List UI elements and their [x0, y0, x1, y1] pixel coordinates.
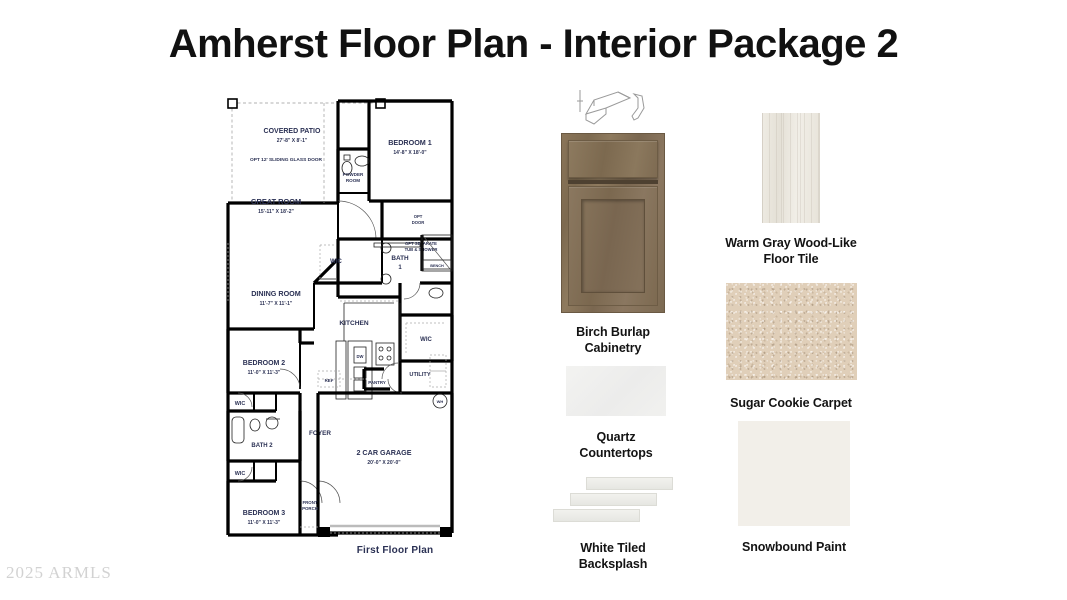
label-covered-patio: COVERED PATIO [264, 128, 321, 135]
label-garage: 2 CAR GARAGE [356, 448, 411, 457]
swatch-label-quartz: Quartz Countertops [544, 429, 688, 462]
label-bedroom-1: BEDROOM 1 [388, 138, 432, 147]
floor-plan-caption: First Floor Plan [330, 545, 460, 556]
label-bedroom-2-dims: 11'-0" X 11'-3" [248, 370, 281, 376]
cabinet-reveal-gap [568, 180, 658, 184]
swatch-warm-gray-floor-tile [762, 113, 820, 223]
label-wic-4: WIC [235, 471, 246, 477]
swatch-sugar-cookie-carpet [726, 283, 857, 380]
label-great-room-dims: 15'-11" X 18'-2" [258, 209, 294, 215]
label-opt-door-1: OPT [414, 214, 423, 219]
label-bedroom-1-dims: 14'-8" X 18'-0" [393, 150, 427, 156]
label-bedroom-3: BEDROOM 3 [243, 510, 286, 517]
label-refrigerator: REF [325, 378, 334, 383]
backsplash-tile [586, 477, 673, 490]
label-foyer: FOYER [309, 430, 331, 437]
label-powder-room-1: POWDER [343, 172, 364, 177]
cabinet-recessed-panel [581, 199, 645, 293]
floor-plan-drawing: .w{stroke:#000;stroke-width:3.2;fill:non… [214, 93, 458, 543]
label-opt-door-2: DOOR [412, 220, 425, 225]
label-wic-2: WIC [420, 337, 432, 343]
label-great-room: GREAT ROOM [251, 197, 301, 206]
label-powder-room-2: ROOM [346, 178, 360, 183]
label-bath-2: BATH 2 [251, 443, 273, 449]
cabinet-drawer-front [568, 140, 658, 178]
swatch-cabinetry [561, 133, 665, 313]
label-dishwasher: DW [357, 354, 364, 359]
swatch-label-carpet: Sugar Cookie Carpet [701, 395, 881, 411]
label-dining-room: DINING ROOM [251, 289, 301, 298]
page-title: Amherst Floor Plan - Interior Package 2 [0, 22, 1067, 67]
label-bedroom-2: BEDROOM 2 [243, 360, 286, 367]
cabinet-door-front [568, 186, 658, 306]
swatch-label-cabinetry: Birch Burlap Cabinetry [541, 324, 685, 357]
backsplash-tile [570, 493, 657, 506]
label-pantry: PANTRY [368, 380, 386, 385]
label-front-porch-2: PORCH [302, 506, 318, 511]
label-sliding-glass-door: OPT 12' SLIDING GLASS DOOR [250, 157, 323, 163]
label-kitchen: KITCHEN [339, 320, 369, 327]
backsplash-tile [553, 509, 640, 522]
label-covered-patio-dims: 27'-8" X 8'-1" [277, 138, 308, 144]
label-utility: UTILITY [409, 372, 430, 378]
label-wic-3: WIC [235, 401, 246, 407]
swatch-label-paint: Snowbound Paint [704, 539, 884, 555]
label-bedroom-3-dims: 11'-0" X 11'-3" [248, 520, 281, 526]
cabinet-door-outer [561, 133, 665, 313]
swatch-label-floor-tile: Warm Gray Wood-Like Floor Tile [701, 235, 881, 268]
label-bath-1: BATH [391, 255, 409, 262]
swatch-snowbound-paint [738, 421, 850, 526]
label-front-porch-1: FRONT [302, 500, 317, 505]
label-garage-dims: 20'-0" X 20'-0" [367, 460, 401, 466]
swatch-quartz-countertops [566, 366, 666, 416]
watermark: 2025 ARMLS [6, 563, 112, 583]
swatch-white-tiled-backsplash [553, 477, 673, 524]
swatch-label-backsplash: White Tiled Backsplash [541, 540, 685, 573]
crown-molding-sketch-icon [572, 88, 650, 128]
label-water-heater: WH [437, 399, 444, 404]
label-wic-1: WIC [330, 259, 342, 265]
label-bench: BENCH [430, 264, 444, 268]
label-dining-room-dims: 11'-7" X 11'-1" [260, 301, 293, 307]
label-bath-1-num: 1 [398, 265, 402, 271]
